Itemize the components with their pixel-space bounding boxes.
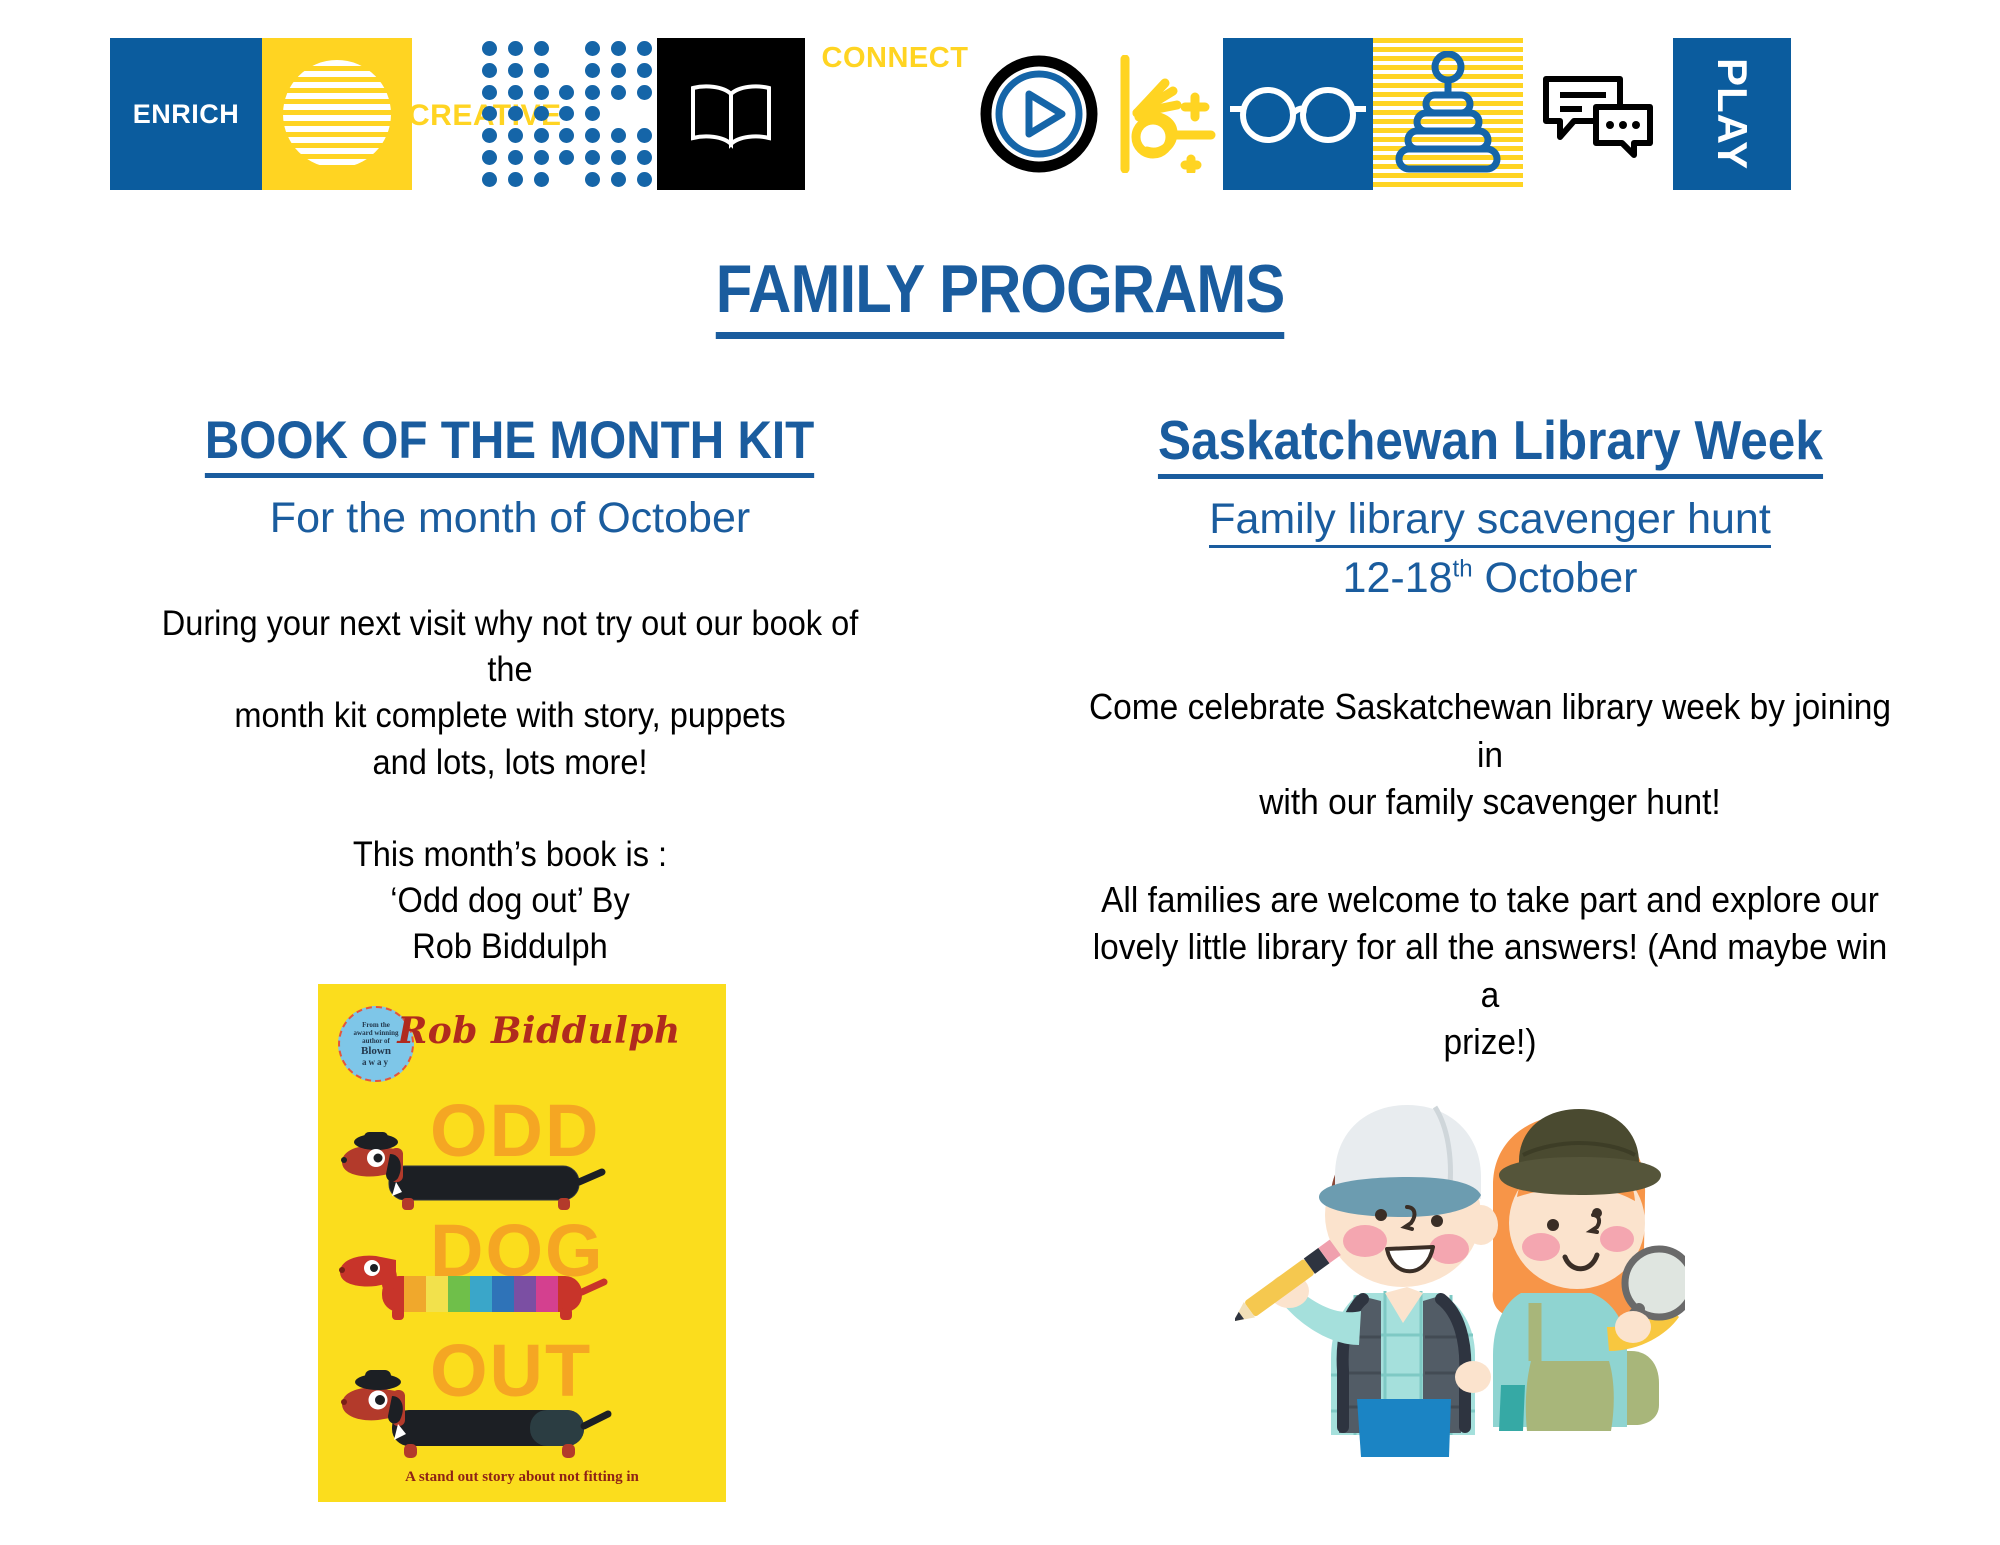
girl-hand bbox=[1615, 1311, 1651, 1343]
girl-right-eye bbox=[1592, 1208, 1602, 1218]
stacking-rings-toy-icon bbox=[1393, 51, 1503, 177]
eyeglasses-icon bbox=[1228, 79, 1368, 149]
left-paragraph1-line2: month kit complete with story, puppets bbox=[138, 693, 882, 739]
open-book-icon bbox=[683, 74, 779, 154]
banner-glasses-block bbox=[1223, 38, 1373, 190]
right-column-heading-text: Saskatchewan Library Week bbox=[1158, 408, 1823, 479]
boy-ear bbox=[1464, 1205, 1498, 1245]
dachshund-dog-black-icon bbox=[334, 1132, 614, 1212]
right-column-heading: Saskatchewan Library Week bbox=[1010, 408, 1970, 479]
left-paragraph2-line1: This month’s book is : bbox=[138, 832, 882, 878]
paragraph-spacer bbox=[1079, 826, 1901, 876]
header-banner: ENRICH CREATIVE CONNECT bbox=[110, 38, 1900, 190]
girl-bag bbox=[1627, 1351, 1659, 1425]
banner-sun-block bbox=[262, 38, 412, 190]
banner-connect-block: CONNECT bbox=[805, 38, 985, 190]
play-circle-icon bbox=[980, 55, 1098, 173]
left-column-body: During your next visit why not try out o… bbox=[64, 601, 957, 970]
boy-left-eye bbox=[1375, 1209, 1387, 1221]
left-column-heading: BOOK OF THE MONTH KIT bbox=[30, 410, 990, 478]
right-column-subheading-text: Family library scavenger hunt bbox=[1209, 495, 1771, 548]
boy-right-cheek bbox=[1429, 1234, 1469, 1264]
left-paragraph1-line1: During your next visit why not try out o… bbox=[138, 601, 882, 693]
book-cover-image: From the award winning author of Blown a… bbox=[318, 984, 726, 1502]
right-column-date: 12-18th October bbox=[1010, 554, 1970, 603]
date-suffix-text: th bbox=[1453, 556, 1473, 583]
hand-ok-icon bbox=[1107, 55, 1219, 173]
book-cover-tagline: A stand out story about not fitting in bbox=[318, 1469, 726, 1486]
book-cover-author: Rob Biddulph bbox=[318, 1010, 726, 1052]
dachshund-dog-rainbow-icon bbox=[334, 1246, 614, 1326]
banner-enrich-label: ENRICH bbox=[133, 99, 240, 130]
left-column-subheading: For the month of October bbox=[30, 494, 990, 543]
right-paragraph1-line1: Come celebrate Saskatchewan library week… bbox=[1079, 683, 1901, 778]
girl-overalls bbox=[1526, 1361, 1614, 1431]
right-column-body: Come celebrate Saskatchewan library week… bbox=[1044, 683, 1937, 1066]
right-paragraph1-line2: with our family scavenger hunt! bbox=[1079, 778, 1901, 826]
speech-bubbles-icon bbox=[1538, 69, 1658, 159]
right-paragraph2-line1: All families are welcome to take part an… bbox=[1079, 876, 1901, 924]
left-column-subheading-text: For the month of October bbox=[270, 494, 750, 542]
banner-stacking-toy-block bbox=[1373, 38, 1523, 190]
banner-play-block bbox=[975, 38, 1103, 190]
dot-grid-icon bbox=[477, 38, 657, 190]
page-title-text: FAMILY PROGRAMS bbox=[716, 250, 1285, 339]
girl-left-eye bbox=[1547, 1219, 1559, 1231]
two-kids-explorers-illustration bbox=[1235, 1055, 1685, 1485]
boy-right-eye bbox=[1431, 1215, 1443, 1227]
badge-title2: away bbox=[362, 1057, 390, 1067]
boy-jeans bbox=[1357, 1399, 1451, 1457]
left-column: BOOK OF THE MONTH KIT For the month of O… bbox=[30, 410, 990, 970]
girl-bucket-hat-brim bbox=[1499, 1157, 1661, 1195]
left-paragraph2-line3: Rob Biddulph bbox=[138, 924, 882, 970]
left-paragraph2-line2: ‘Odd dog out’ By bbox=[138, 878, 882, 924]
sun-icon bbox=[283, 60, 391, 168]
right-paragraph2-line2: lovely little library for all the answer… bbox=[1079, 923, 1901, 1018]
banner-speech-block bbox=[1523, 38, 1673, 190]
banner-hand-block bbox=[1103, 38, 1223, 190]
girl-right-cheek bbox=[1600, 1226, 1634, 1252]
left-column-heading-text: BOOK OF THE MONTH KIT bbox=[205, 410, 814, 478]
date-range-text: 12-18 bbox=[1343, 554, 1453, 602]
banner-connect-label: CONNECT bbox=[822, 42, 969, 75]
banner-play-label: PLAY bbox=[1708, 58, 1756, 170]
page-title: FAMILY PROGRAMS bbox=[0, 250, 2000, 339]
date-month-text: October bbox=[1473, 554, 1638, 602]
boy-hand-right bbox=[1455, 1361, 1491, 1393]
girl-left-cheek bbox=[1522, 1233, 1560, 1261]
girl-pants bbox=[1499, 1385, 1525, 1431]
boy-left-cheek bbox=[1343, 1225, 1387, 1257]
paragraph-spacer bbox=[138, 786, 882, 832]
banner-enrich-block: ENRICH bbox=[110, 38, 262, 190]
left-paragraph1-line3: and lots, lots more! bbox=[138, 740, 882, 786]
banner-play-word-block: PLAY bbox=[1673, 38, 1791, 190]
banner-book-block bbox=[657, 38, 805, 190]
dachshund-dog-black-bottom-icon bbox=[334, 1370, 624, 1462]
right-column-subheading: Family library scavenger hunt bbox=[1010, 495, 1970, 548]
right-column: Saskatchewan Library Week Family library… bbox=[1010, 408, 1970, 1066]
